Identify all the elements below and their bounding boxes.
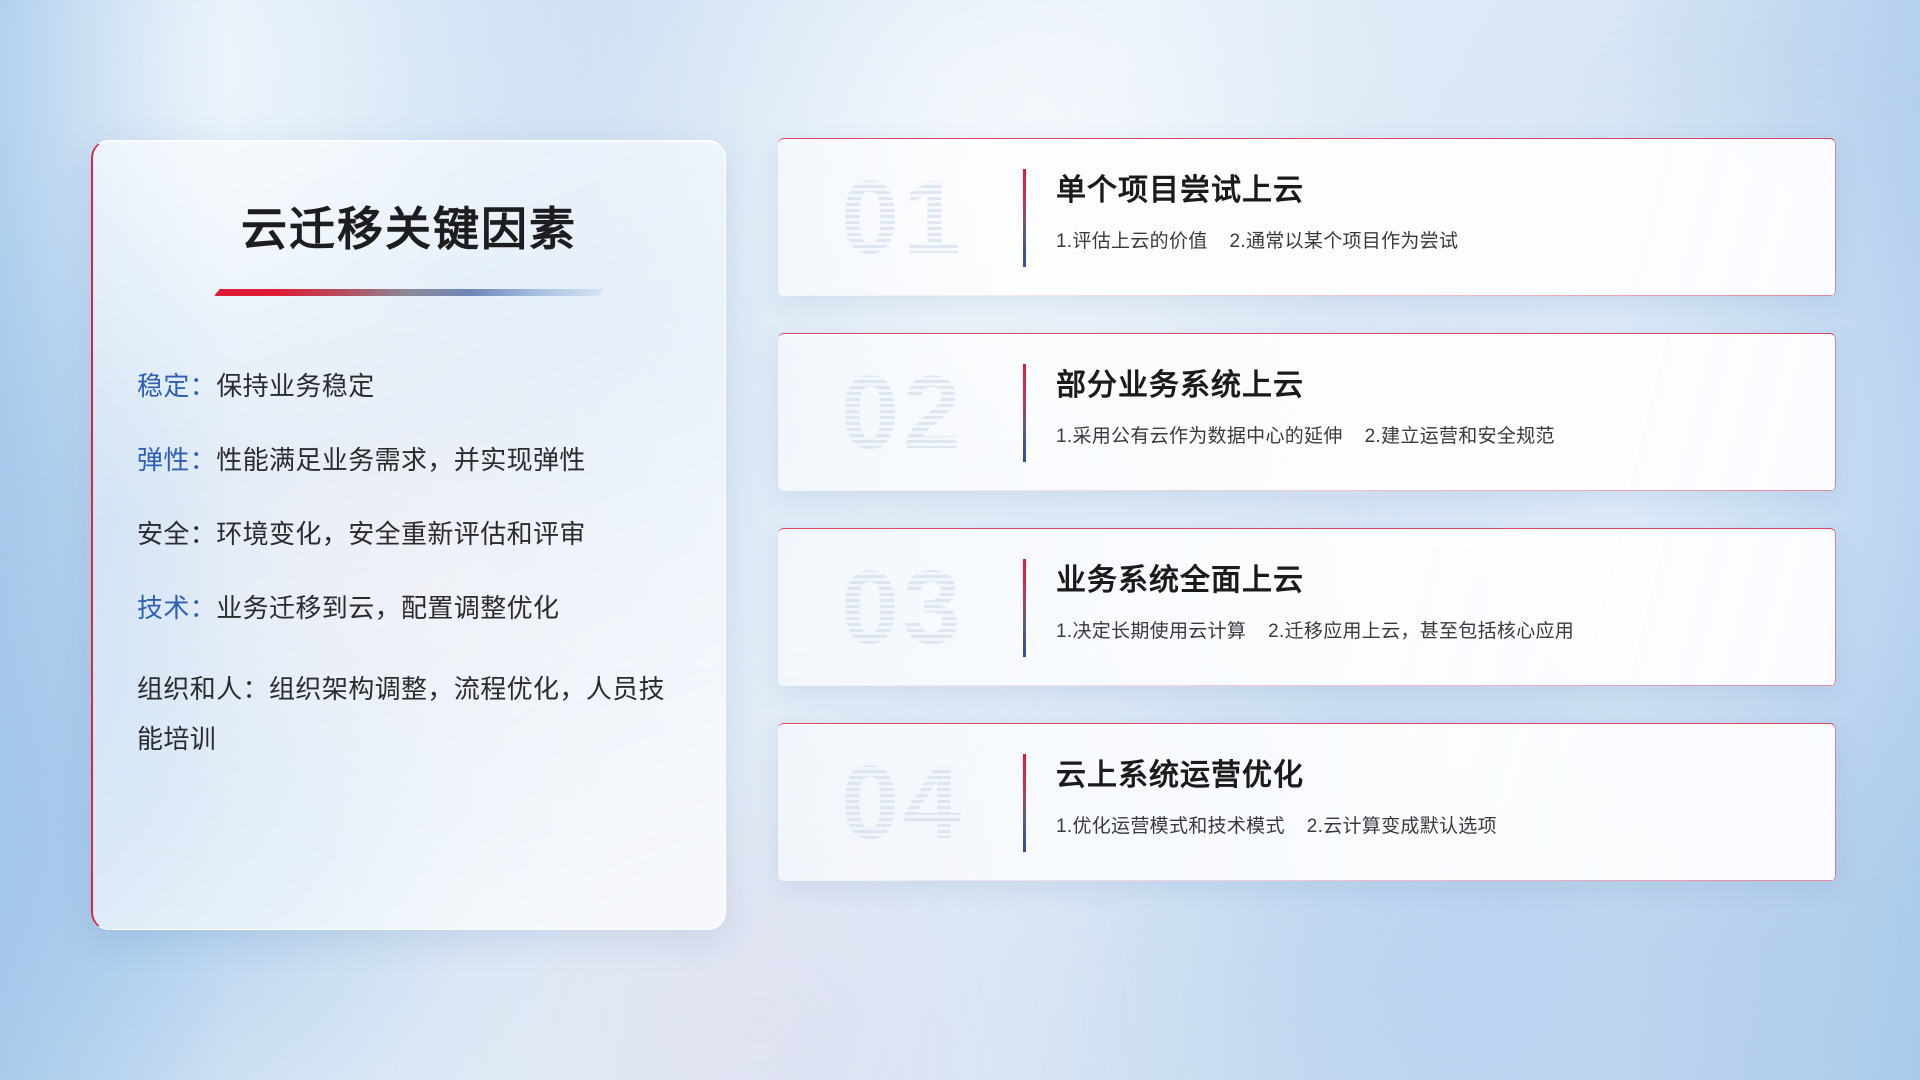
stage-title: 云上系统运营优化 [1056, 750, 1795, 794]
stage-number: 04 [808, 740, 998, 866]
stage-content: 业务系统全面上云 1.决定长期使用云计算2.迁移应用上云，甚至包括核心应用 [1056, 555, 1795, 643]
list-item: 稳定：保持业务稳定 [137, 368, 689, 405]
factor-value: 环境变化，安全重新评估和评审 [216, 519, 586, 549]
stage-description: 1.优化运营模式和技术模式2.云计算变成默认选项 [1056, 811, 1795, 838]
stage-description: 1.评估上云的价值2.通常以某个项目作为尝试 [1056, 226, 1795, 253]
stage-point-1: 1.采用公有云作为数据中心的延伸 [1056, 426, 1343, 447]
list-item: 组织和人：组织架构调整，流程优化，人员技能培训 [137, 664, 689, 765]
factor-value: 保持业务稳定 [216, 371, 374, 401]
stage-point-2: 2.云计算变成默认选项 [1307, 816, 1497, 837]
key-factors-panel: 云迁移关键因素 稳定：保持业务稳定 弹性：性能满足业务需求，并实现弹性 安全：环… [91, 140, 726, 930]
factor-label: 稳定： [137, 371, 216, 401]
factor-value: 业务迁移到云，配置调整优化 [216, 593, 559, 623]
stage-content: 云上系统运营优化 1.优化运营模式和技术模式2.云计算变成默认选项 [1056, 750, 1795, 838]
stage-divider-accent [1023, 754, 1026, 852]
factor-label: 技术： [137, 593, 216, 623]
stage-point-1: 1.决定长期使用云计算 [1056, 621, 1246, 642]
migration-stages-list: 01 单个项目尝试上云 1.评估上云的价值2.通常以某个项目作为尝试 02 部分… [778, 138, 1836, 918]
stage-number: 03 [808, 545, 998, 671]
stage-content: 单个项目尝试上云 1.评估上云的价值2.通常以某个项目作为尝试 [1056, 165, 1795, 253]
key-factors-list: 稳定：保持业务稳定 弹性：性能满足业务需求，并实现弹性 安全：环境变化，安全重新… [93, 368, 725, 765]
factor-value: 性能满足业务需求，并实现弹性 [216, 445, 586, 475]
stage-divider-accent [1023, 169, 1026, 267]
stage-point-2: 2.迁移应用上云，甚至包括核心应用 [1268, 621, 1574, 642]
slide-canvas: 云迁移关键因素 稳定：保持业务稳定 弹性：性能满足业务需求，并实现弹性 安全：环… [0, 0, 1920, 1080]
stage-divider-accent [1023, 364, 1026, 462]
stage-title: 业务系统全面上云 [1056, 555, 1795, 599]
factor-label: 组织和人： [137, 674, 269, 704]
stage-point-2: 2.通常以某个项目作为尝试 [1230, 231, 1459, 252]
stage-content: 部分业务系统上云 1.采用公有云作为数据中心的延伸2.建立运营和安全规范 [1056, 360, 1795, 448]
stage-point-1: 1.评估上云的价值 [1056, 231, 1208, 252]
stage-title: 单个项目尝试上云 [1056, 165, 1795, 209]
stage-point-1: 1.优化运营模式和技术模式 [1056, 816, 1285, 837]
factor-label: 弹性： [137, 445, 216, 475]
stage-card[interactable]: 03 业务系统全面上云 1.决定长期使用云计算2.迁移应用上云，甚至包括核心应用 [778, 528, 1836, 686]
list-item: 安全：环境变化，安全重新评估和评审 [137, 516, 689, 553]
factor-label: 安全： [137, 519, 216, 549]
title-underline-accent [214, 289, 604, 296]
stage-card[interactable]: 01 单个项目尝试上云 1.评估上云的价值2.通常以某个项目作为尝试 [778, 138, 1836, 296]
stage-title: 部分业务系统上云 [1056, 360, 1795, 404]
stage-number: 02 [808, 350, 998, 476]
page-title: 云迁移关键因素 [93, 193, 725, 259]
stage-description: 1.采用公有云作为数据中心的延伸2.建立运营和安全规范 [1056, 421, 1795, 448]
stage-point-2: 2.建立运营和安全规范 [1365, 426, 1555, 447]
stage-card[interactable]: 04 云上系统运营优化 1.优化运营模式和技术模式2.云计算变成默认选项 [778, 723, 1836, 881]
stage-number: 01 [808, 155, 998, 281]
list-item: 弹性：性能满足业务需求，并实现弹性 [137, 442, 689, 479]
list-item: 技术：业务迁移到云，配置调整优化 [137, 590, 689, 627]
stage-description: 1.决定长期使用云计算2.迁移应用上云，甚至包括核心应用 [1056, 616, 1795, 643]
stage-divider-accent [1023, 559, 1026, 657]
stage-card[interactable]: 02 部分业务系统上云 1.采用公有云作为数据中心的延伸2.建立运营和安全规范 [778, 333, 1836, 491]
